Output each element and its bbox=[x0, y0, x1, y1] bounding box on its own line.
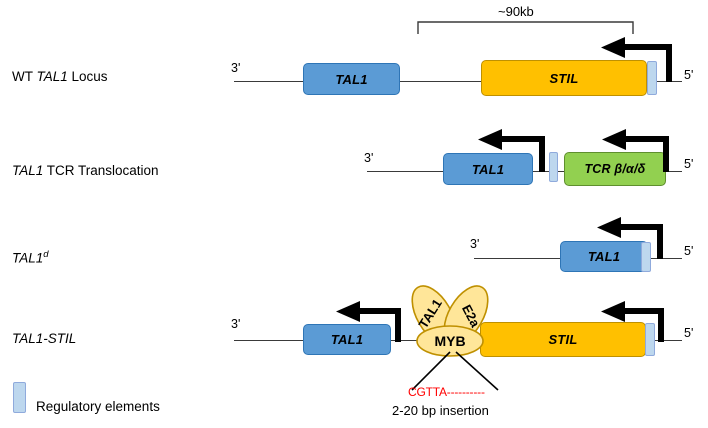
three-prime-label-row3: 3' bbox=[470, 238, 479, 251]
oval-label-myb: MYB bbox=[434, 333, 465, 349]
insertion-sequence-dashes: ---------- bbox=[447, 385, 485, 399]
three-prime-label-row2: 3' bbox=[364, 152, 373, 165]
five-prime-label-row4: 5' bbox=[684, 327, 693, 340]
row-label-text-gene: TAL1 bbox=[12, 163, 43, 178]
promoter-arrow-stil-row4 bbox=[595, 300, 675, 344]
legend-swatch-regulatory-element bbox=[13, 382, 26, 413]
row-label-wt-tal1-locus: WT TAL1 Locus bbox=[12, 70, 108, 84]
gene-label: STIL bbox=[549, 332, 578, 347]
insertion-sequence-text: CGTTA bbox=[408, 385, 447, 399]
row-label-superscript: d bbox=[43, 249, 48, 260]
promoter-arrow-row1 bbox=[595, 36, 685, 84]
transcription-factor-complex: TAL1 E2a MYB bbox=[398, 280, 516, 358]
five-prime-label-row1: 5' bbox=[684, 69, 693, 82]
bracket-label-90kb: ~90kb bbox=[498, 5, 534, 18]
row-label-text-suffix: TCR Translocation bbox=[43, 163, 158, 178]
row-label-tal1-d: TAL1d bbox=[12, 250, 49, 265]
insertion-sequence: CGTTA---------- bbox=[408, 386, 485, 398]
insertion-caption: 2-20 bp insertion bbox=[392, 404, 489, 417]
gene-label: STIL bbox=[550, 71, 579, 86]
row-label-text-suffix: Locus bbox=[68, 69, 108, 84]
row-label-tal1-stil: TAL1-STIL bbox=[12, 332, 76, 346]
three-prime-label-row1: 3' bbox=[231, 62, 240, 75]
gene-box-tal1-row1: TAL1 bbox=[303, 63, 400, 95]
row-label-tal1-tcr-translocation: TAL1 TCR Translocation bbox=[12, 164, 159, 178]
five-prime-label-row2: 5' bbox=[684, 158, 693, 171]
gene-label: TAL1 bbox=[335, 72, 367, 87]
promoter-arrow-tcr-row2 bbox=[596, 128, 676, 174]
row-label-text-gene: TAL1-STIL bbox=[12, 331, 76, 346]
row-label-text-prefix: WT bbox=[12, 69, 37, 84]
row-label-text-gene: TAL1 bbox=[37, 69, 68, 84]
promoter-arrow-row3 bbox=[591, 216, 671, 261]
legend-label-regulatory-elements: Regulatory elements bbox=[36, 400, 160, 414]
row-label-text-gene: TAL1 bbox=[12, 251, 43, 266]
tal1-locus-diagram: WT TAL1 Locus ~90kb 3' 5' TAL1 STIL TAL1… bbox=[0, 0, 708, 428]
three-prime-label-row4: 3' bbox=[231, 318, 240, 331]
five-prime-label-row3: 5' bbox=[684, 245, 693, 258]
promoter-arrow-tal1-row2 bbox=[472, 128, 552, 174]
